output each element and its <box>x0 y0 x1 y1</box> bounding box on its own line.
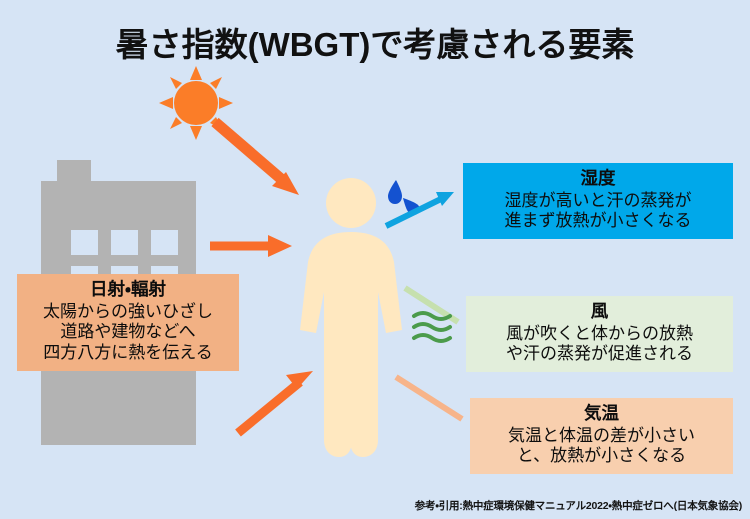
info-box-temperature-line1: 気温と体温の差が小さい <box>478 426 725 447</box>
person-icon <box>300 178 402 457</box>
info-box-humidity: 湿度 湿度が高いと汗の蒸発が 進まず放熱が小さくなる <box>463 163 733 239</box>
info-box-radiation-line2: 道路や建物などへ <box>25 322 231 343</box>
info-box-humidity-line1: 湿度が高いと汗の蒸発が <box>471 191 725 212</box>
info-box-wind-line2: や汗の蒸発が促進される <box>474 344 725 365</box>
info-box-temperature-line2: と、放熱が小さくなる <box>478 446 725 467</box>
info-box-humidity-line2: 進まず放熱が小さくなる <box>471 211 725 232</box>
arrow-ground-to-person <box>238 371 313 433</box>
wind-lines-icon <box>414 313 450 341</box>
arrow-building-to-person <box>210 235 292 257</box>
info-box-wind-line1: 風が吹くと体からの放熱 <box>474 324 725 345</box>
page-title: 暑さ指数(WBGT)で考慮される要素 <box>0 18 750 66</box>
info-box-radiation-line3: 四方八方に熱を伝える <box>25 343 231 364</box>
sweat-drop-icon <box>388 180 420 215</box>
arrow-person-to-temperature <box>396 377 462 419</box>
info-box-humidity-title: 湿度 <box>471 168 725 190</box>
source-credit: 参考・引用:熱中症環境保健マニュアル2022・熱中症ゼロへ(日本気象協会) <box>415 498 742 513</box>
infographic-canvas: 暑さ指数(WBGT)で考慮される要素 <box>0 0 750 519</box>
info-box-temperature: 気温 気温と体温の差が小さい と、放熱が小さくなる <box>470 398 733 474</box>
arrow-person-to-wind <box>405 288 458 322</box>
info-box-wind: 風 風が吹くと体からの放熱 や汗の蒸発が促進される <box>466 296 733 372</box>
arrow-sun-to-person <box>215 122 299 195</box>
sun-icon <box>159 66 233 140</box>
info-box-wind-title: 風 <box>474 301 725 323</box>
info-box-radiation: 日射・輻射 太陽からの強いひざし 道路や建物などへ 四方八方に熱を伝える <box>17 274 239 371</box>
info-box-temperature-title: 気温 <box>478 403 725 425</box>
arrow-person-to-humidity <box>386 192 454 226</box>
info-box-radiation-title: 日射・輻射 <box>25 279 231 301</box>
info-box-radiation-line1: 太陽からの強いひざし <box>25 302 231 323</box>
